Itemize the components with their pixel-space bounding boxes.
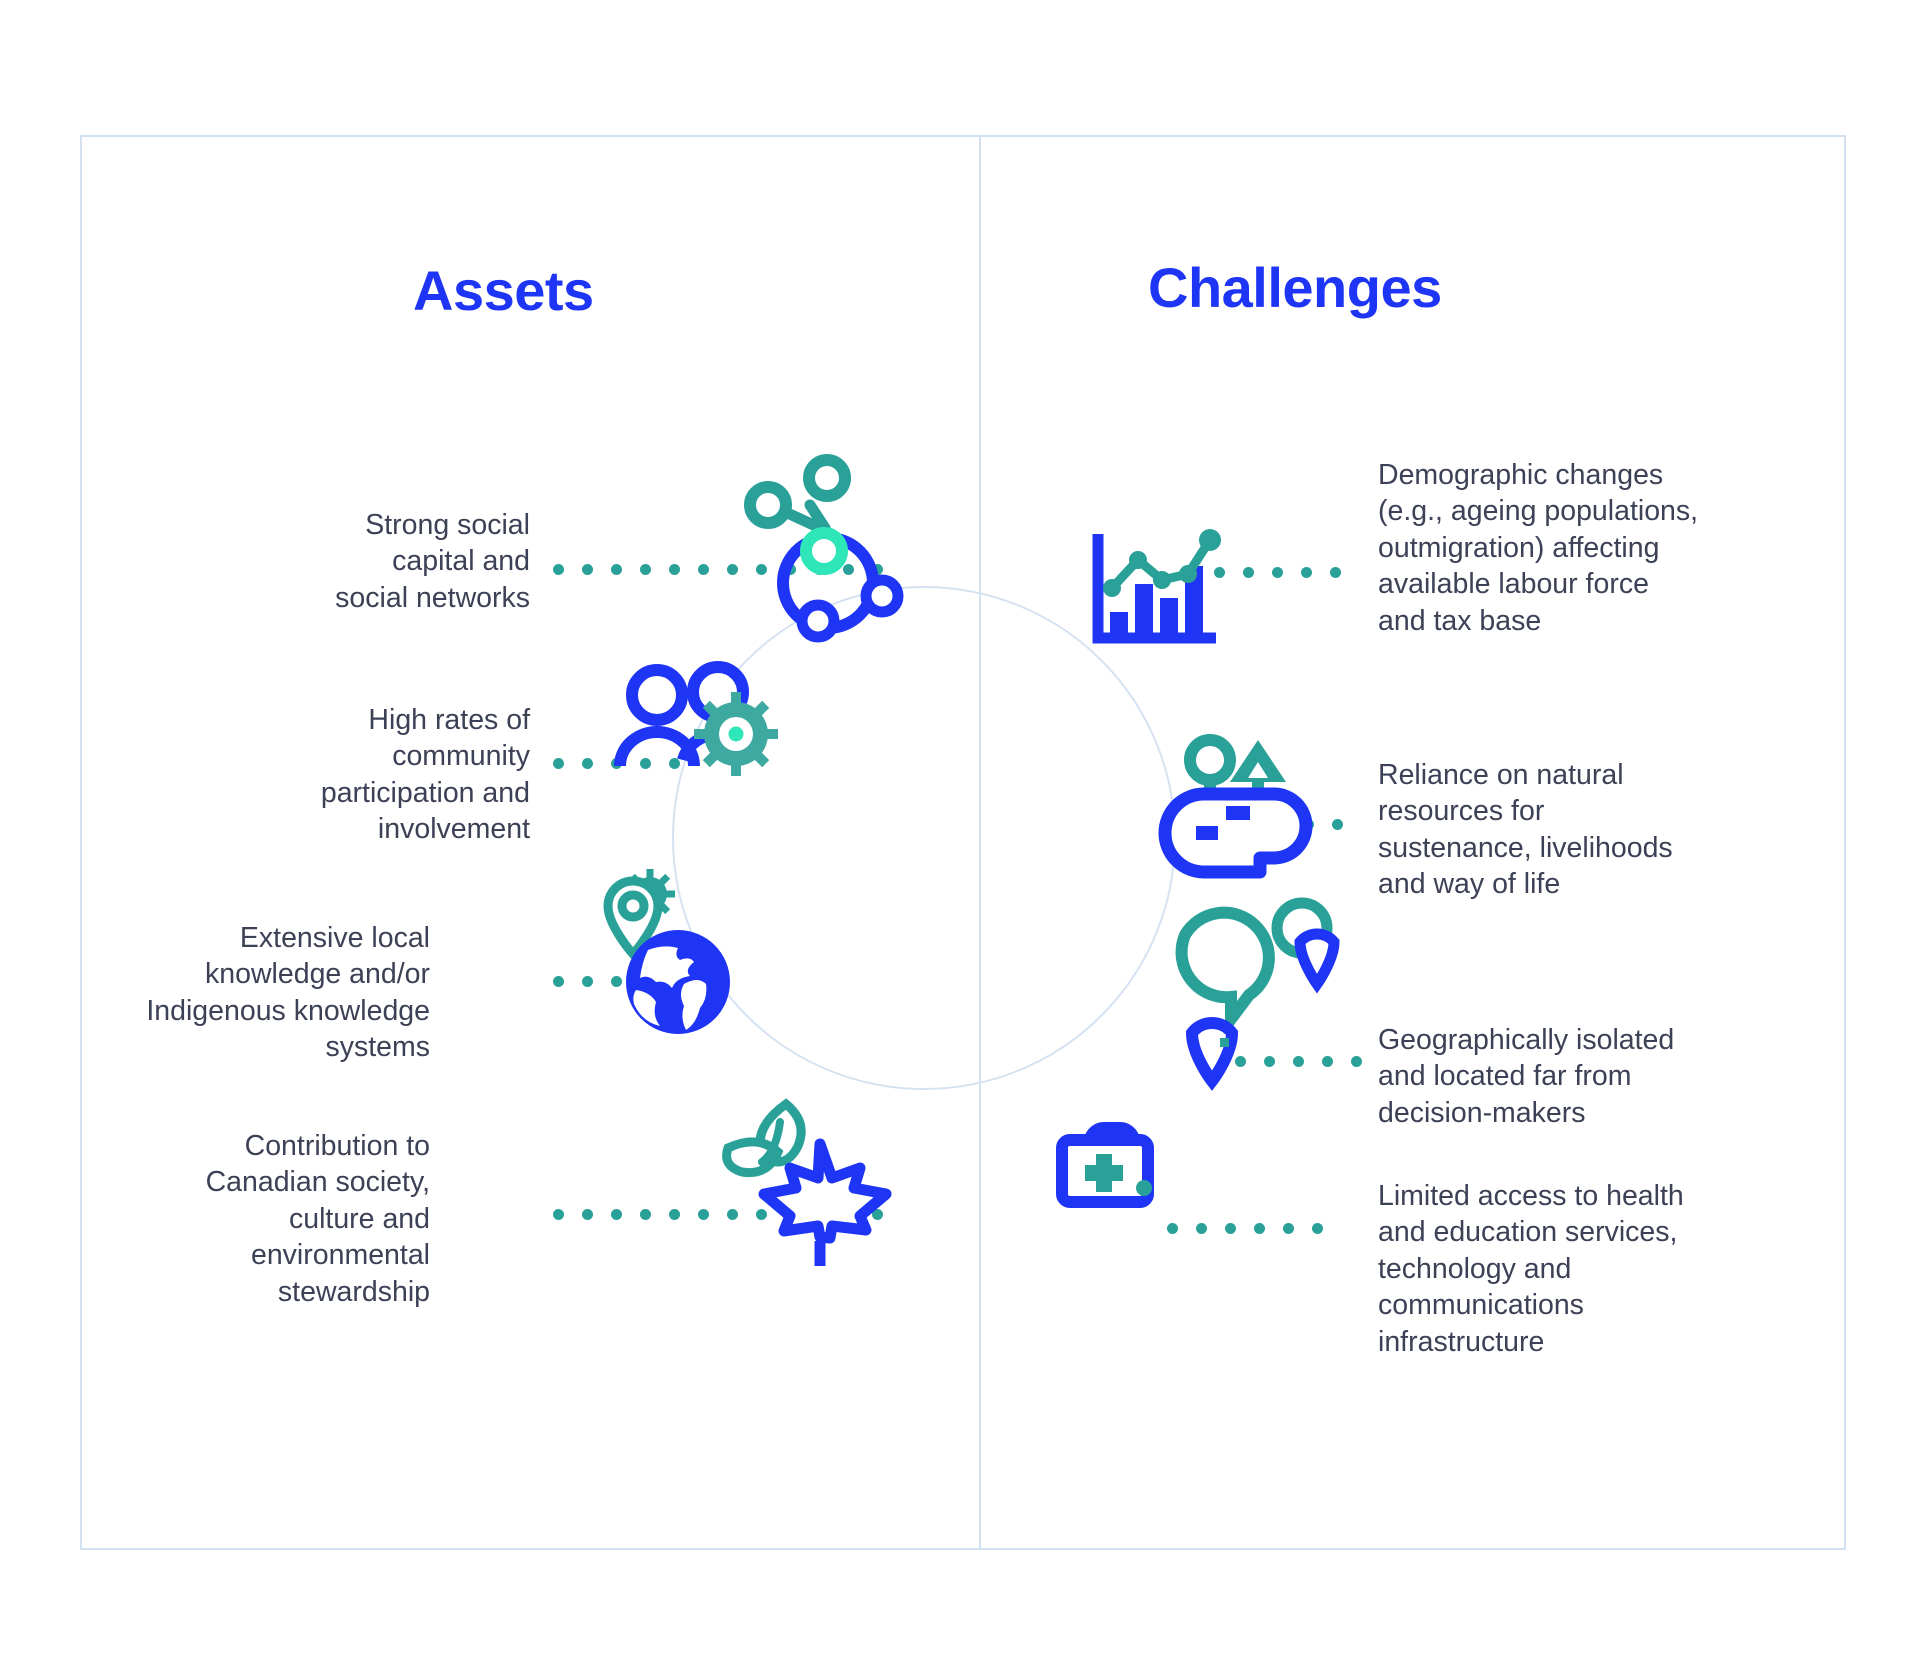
connector-dot [553,758,564,769]
connector-dot [669,564,680,575]
connector-dot [582,758,593,769]
globe-location-pin-icon [578,872,768,1047]
maple-leaf-sprout-icon [708,1086,898,1276]
connector-dot [640,1209,651,1220]
connector-dot [582,564,593,575]
connector-dot [553,564,564,575]
asset-item-text-contribution: Contribution to Canadian society, cultur… [0,1128,430,1310]
asset-item-text-local-knowledge: Extensive local knowledge and/or Indigen… [0,920,430,1066]
connector-dot [669,1209,680,1220]
social-network-nodes-icon [740,450,920,645]
asset-item-text-social-capital: Strong social capital and social network… [110,507,530,616]
challenge-item-text-geographic-isolation: Geographically isolated and located far … [1378,1022,1798,1131]
connector-dot [553,1209,564,1220]
connector-dot [698,564,709,575]
connector-dot [1283,1223,1294,1234]
connector-dot [1254,1223,1265,1234]
asset-item-text-community-participation: High rates of community participation an… [110,702,530,848]
connector-dot [1332,819,1343,830]
connector-dot [611,564,622,575]
challenge-item-text-limited-access: Limited access to health and education s… [1378,1178,1798,1360]
medical-kit-icon [1058,1118,1208,1243]
connector-dot [1330,567,1341,578]
connector-dot [1225,1223,1236,1234]
people-gear-icon [614,662,804,802]
connector-dot [611,1209,622,1220]
connector-dot [640,564,651,575]
connector-dot [582,1209,593,1220]
assets-column-title: Assets [413,258,594,323]
connector-dot [1312,1223,1323,1234]
map-pins-icon [1160,890,1355,1090]
natural-resources-landscape-icon [1168,736,1328,881]
connector-dot [1272,567,1283,578]
connector-dot [553,976,564,987]
challenges-column-title: Challenges [1148,255,1442,320]
connector-dot [1243,567,1254,578]
challenge-item-text-natural-resources: Reliance on natural resources for susten… [1378,757,1798,903]
infographic-canvas: Assets Challenges Strong social capital … [0,0,1908,1660]
bar-chart-trend-icon [1088,526,1228,656]
connector-dots-challenge-0 [1214,566,1341,578]
challenge-item-text-demographic-changes: Demographic changes (e.g., ageing popula… [1378,457,1798,639]
connector-dot [727,564,738,575]
connector-dot [1301,567,1312,578]
